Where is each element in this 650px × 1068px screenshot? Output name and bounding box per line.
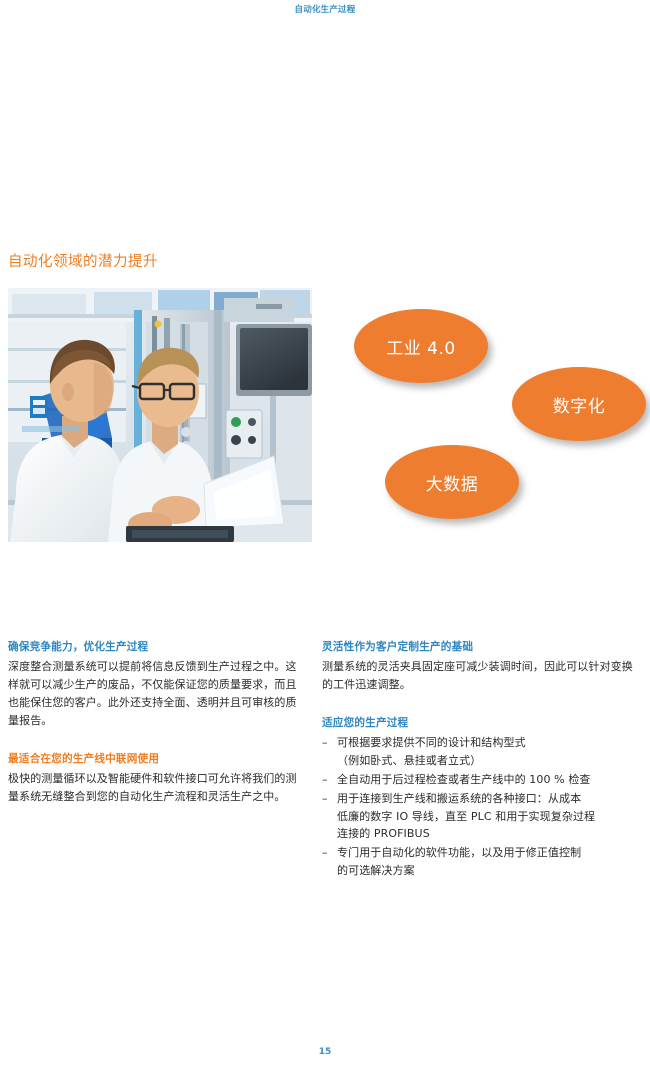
list-item-line: 全自动用于后过程检查或者生产线中的 100 % 检查 [337,771,640,789]
list-item: – 用于连接到生产线和搬运系统的各种接口：从成本 低廉的数字 IO 导线，直至 … [322,790,640,843]
list-item: – 全自动用于后过程检查或者生产线中的 100 % 检查 [322,771,640,789]
hero-photo [8,288,312,542]
left-text-column: 确保竞争能力，优化生产过程 深度整合测量系统可以提前将信息反馈到生产过程之中。这… [8,640,304,806]
subheading-competitiveness: 确保竞争能力，优化生产过程 [8,640,304,655]
list-item-line: 专门用于自动化的软件功能，以及用于修正值控制 [337,844,640,862]
list-item-line: 可根据要求提供不同的设计和结构型式 [337,734,640,752]
paragraph-flexibility: 测量系统的灵活夹具固定座可减少装调时间，因此可以针对变换的工件迅速调整。 [322,658,640,694]
list-item-line: 的可选解决方案 [337,862,640,880]
list-item-line: 低廉的数字 IO 导线，直至 PLC 和用于实现复杂过程 [337,808,640,826]
text-block-adaptation: 适应您的生产过程 – 可根据要求提供不同的设计和结构型式 （例如卧式、悬挂或者立… [322,716,640,880]
bubble-digitalization: 数字化 [512,367,646,441]
bubble-industry-40: 工业 4.0 [354,309,488,383]
bullet-dash-icon: – [322,790,328,808]
paragraph-networked-production: 极快的测量循环以及智能硬件和软件接口可允许将我们的测量系统无缝整合到您的自动化生… [8,770,304,806]
bubble-big-data: 大数据 [385,445,519,519]
list-item: – 可根据要求提供不同的设计和结构型式 （例如卧式、悬挂或者立式） [322,734,640,770]
list-item: – 专门用于自动化的软件功能，以及用于修正值控制 的可选解决方案 [322,844,640,880]
subheading-flexibility: 灵活性作为客户定制生产的基础 [322,640,640,655]
text-block-networked-production: 最适合在您的生产线中联网使用 极快的测量循环以及智能硬件和软件接口可允许将我们的… [8,752,304,806]
photo-illustration [8,288,312,542]
page-title: 自动化领域的潜力提升 [8,250,158,271]
keyword-bubble-group: 工业 4.0 数字化 大数据 [340,288,646,542]
bullet-dash-icon: – [322,734,328,752]
feature-bullet-list: – 可根据要求提供不同的设计和结构型式 （例如卧式、悬挂或者立式） – 全自动用… [322,734,640,880]
page-number: 15 [0,1047,650,1057]
running-header-title: 自动化生产过程 [0,3,650,15]
subheading-networked-production: 最适合在您的生产线中联网使用 [8,752,304,767]
text-block-flexibility: 灵活性作为客户定制生产的基础 测量系统的灵活夹具固定座可减少装调时间，因此可以针… [322,640,640,694]
text-block-competitiveness: 确保竞争能力，优化生产过程 深度整合测量系统可以提前将信息反馈到生产过程之中。这… [8,640,304,730]
right-text-column: 灵活性作为客户定制生产的基础 测量系统的灵活夹具固定座可减少装调时间，因此可以针… [322,640,640,881]
bullet-dash-icon: – [322,844,328,862]
paragraph-competitiveness: 深度整合测量系统可以提前将信息反馈到生产过程之中。这样就可以减少生产的废品，不仅… [8,658,304,729]
list-item-line: （例如卧式、悬挂或者立式） [337,752,640,770]
list-item-line: 用于连接到生产线和搬运系统的各种接口：从成本 [337,790,640,808]
subheading-adaptation: 适应您的生产过程 [322,716,640,731]
list-item-line: 连接的 PROFIBUS [337,825,640,843]
bullet-dash-icon: – [322,771,328,789]
